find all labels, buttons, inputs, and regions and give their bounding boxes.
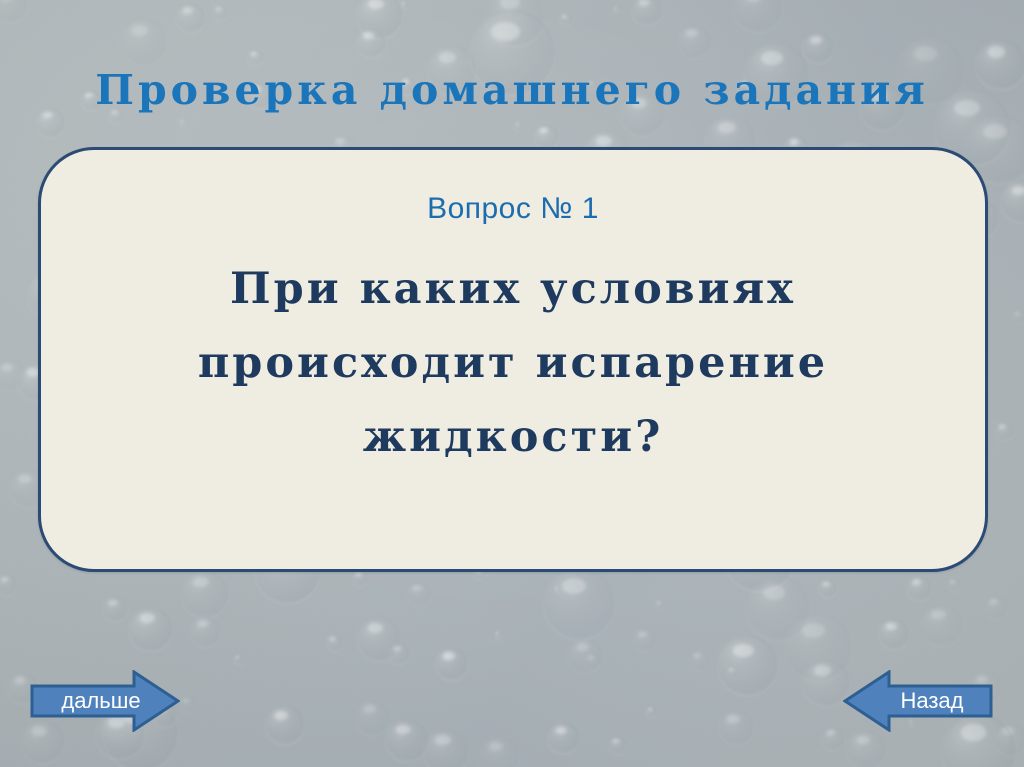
water-droplet xyxy=(689,650,710,671)
water-droplet xyxy=(567,638,603,674)
water-droplet xyxy=(646,706,657,717)
question-line-1: При каких условиях xyxy=(85,252,941,326)
water-droplet xyxy=(733,0,781,33)
water-droplet xyxy=(265,705,305,745)
question-number-label: Вопрос № 1 xyxy=(41,192,985,226)
water-droplet xyxy=(726,666,740,680)
water-droplet xyxy=(584,653,601,670)
water-droplet xyxy=(352,570,369,587)
water-droplet xyxy=(655,600,665,610)
water-droplet xyxy=(0,0,27,23)
water-droplet xyxy=(388,643,410,665)
water-droplet xyxy=(179,696,195,712)
water-droplet xyxy=(479,736,520,767)
water-droplet xyxy=(994,422,1014,442)
water-droplet xyxy=(543,568,615,640)
water-droplet xyxy=(718,710,754,746)
page-title: Проверка домашнего задания xyxy=(0,64,1024,116)
water-droplet xyxy=(906,576,931,601)
question-line-2: происходит испарение xyxy=(85,326,941,400)
water-droplet xyxy=(717,635,778,696)
water-droplet xyxy=(189,616,221,648)
water-droplet xyxy=(179,119,187,127)
water-droplet xyxy=(385,719,429,763)
water-droplet xyxy=(821,727,845,751)
question-card: Вопрос № 1 При каких условиях происходит… xyxy=(38,147,988,572)
water-droplet xyxy=(233,654,244,665)
water-droplet xyxy=(356,28,387,59)
water-droplet xyxy=(180,570,229,619)
water-droplet xyxy=(947,578,961,592)
water-droplet xyxy=(325,634,343,652)
water-droplet xyxy=(746,576,811,641)
water-droplet xyxy=(1000,180,1024,223)
water-droplet xyxy=(631,0,663,26)
water-droplet xyxy=(406,582,432,608)
water-droplet xyxy=(0,574,17,595)
water-droplet xyxy=(513,121,524,132)
water-droplet xyxy=(494,631,502,639)
slide-root: Проверка домашнего задания Вопрос № 1 Пр… xyxy=(0,0,1024,767)
water-droplet xyxy=(0,359,26,390)
water-droplet xyxy=(533,124,559,150)
water-droplet xyxy=(608,736,627,755)
water-droplet xyxy=(920,604,963,647)
water-droplet xyxy=(633,628,656,651)
water-droplet xyxy=(356,0,403,39)
water-droplet xyxy=(120,18,168,66)
next-button[interactable]: дальше xyxy=(30,670,180,732)
arrow-left-icon xyxy=(843,670,993,732)
back-button[interactable]: Назад xyxy=(843,670,993,732)
water-droplet xyxy=(559,13,573,27)
water-droplet xyxy=(102,596,128,622)
question-line-3: жидкости? xyxy=(85,400,941,474)
arrow-right-icon xyxy=(30,670,180,732)
water-droplet xyxy=(355,700,390,735)
water-droplet xyxy=(485,0,544,47)
water-droplet xyxy=(128,607,173,652)
water-droplet xyxy=(846,730,885,767)
water-droplet xyxy=(175,3,206,34)
water-droplet xyxy=(984,596,1008,620)
water-droplet xyxy=(547,722,579,754)
water-droplet xyxy=(554,586,561,593)
water-droplet xyxy=(677,25,712,60)
question-text: При каких условиях происходит испарение … xyxy=(85,252,941,474)
water-droplet xyxy=(613,6,620,13)
water-droplet xyxy=(212,5,229,22)
water-droplet xyxy=(423,729,469,767)
water-droplet xyxy=(357,617,402,662)
water-droplet xyxy=(818,579,837,598)
water-droplet xyxy=(435,647,469,681)
water-droplet xyxy=(1012,310,1024,324)
water-droplet xyxy=(994,723,1024,757)
water-droplet xyxy=(878,618,909,649)
water-droplet xyxy=(400,1,409,10)
water-droplet xyxy=(802,32,834,64)
